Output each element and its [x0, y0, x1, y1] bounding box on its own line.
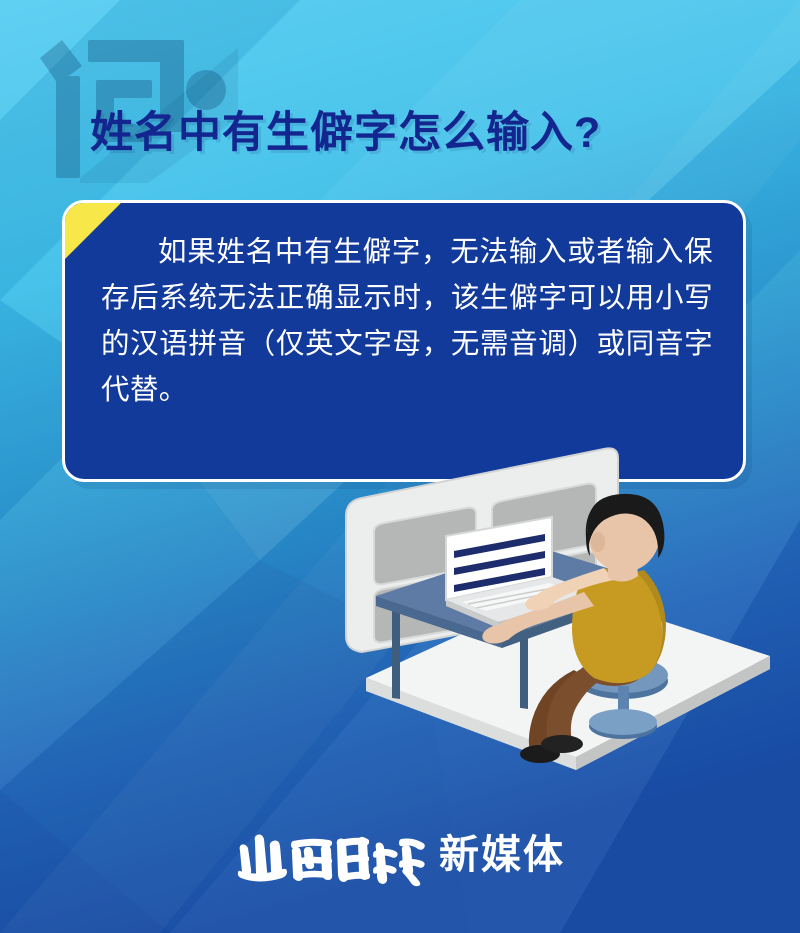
answer-text: 如果姓名中有生僻字，无法输入或者输入保存后系统无法正确显示时，该生僻字可以用小写…	[101, 229, 713, 414]
shanxi-daily-script-icon	[235, 825, 425, 889]
page-title: 姓名中有生僻字怎么输入?	[90, 98, 601, 160]
brand-logo: 新媒体	[0, 818, 800, 896]
poster-root: 姓名中有生僻字怎么输入? 如果姓名中有生僻字，无法输入或者输入保存后系统无法正确…	[0, 0, 800, 933]
brand-subtitle: 新媒体	[439, 835, 565, 879]
workspace-illustration	[336, 438, 800, 778]
